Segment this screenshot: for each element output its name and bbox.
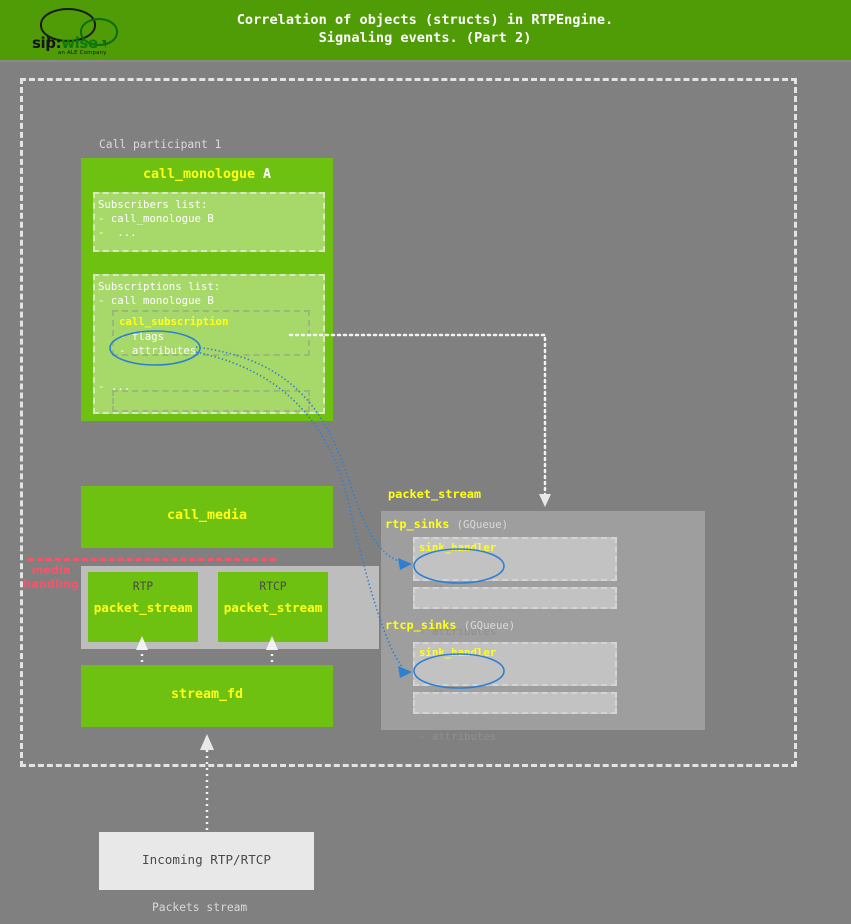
call-monologue-a-title-main: call_monologue bbox=[143, 167, 255, 182]
rtcp-packet-stream-box: RTCP packet_stream bbox=[218, 572, 328, 642]
sink-handler-placeholder-rtp bbox=[413, 587, 617, 609]
call-media-title: call_media bbox=[81, 508, 333, 523]
media-handling-divider bbox=[28, 558, 276, 561]
page-title-line-1: Correlation of objects (structs) in RTPE… bbox=[130, 11, 720, 29]
subscriptions-list-text: Subscriptions list: - call monologue B bbox=[98, 280, 220, 308]
subscriptions-heading: Subscriptions list: bbox=[98, 280, 220, 294]
sipwise-logo: sip:wise an ALE Company bbox=[32, 4, 128, 56]
rtp-sinks-name: rtp_sinks bbox=[385, 517, 449, 531]
logo-word-sip: sip: bbox=[32, 34, 61, 52]
sink-handler-box-rtcp: sink_handler - flags - attributes bbox=[413, 642, 617, 686]
call-subscription-box: call_subscription - flags - attributes bbox=[112, 310, 310, 356]
logo-wordmark: sip:wise bbox=[32, 36, 128, 51]
subscribers-heading: Subscribers list: bbox=[98, 198, 214, 212]
call-participant-label: Call participant 1 bbox=[99, 138, 221, 151]
stream-fd-box: stream_fd bbox=[81, 665, 333, 727]
call-subscription-attributes: - attributes bbox=[119, 344, 196, 358]
logo-tagline: an ALE Company bbox=[58, 50, 128, 56]
incoming-rtp-rtcp-title: Incoming RTP/RTCP bbox=[99, 852, 314, 867]
rtcp-sinks-label: rtcp_sinks (GQueue) bbox=[385, 618, 515, 632]
call-subscription-fields: - flags - attributes bbox=[119, 330, 196, 358]
call-media-box: call_media bbox=[81, 486, 333, 548]
call-monologue-a-title-suffix: A bbox=[255, 167, 271, 182]
call-subscription-title: call_subscription bbox=[119, 315, 228, 328]
packets-stream-caption: Packets stream bbox=[152, 901, 247, 914]
sink-handler-rtcp-title: sink_handler bbox=[419, 646, 496, 659]
subscribers-list-box: Subscribers list: - call_monologue B - .… bbox=[93, 192, 325, 252]
rtcp-sinks-type: (GQueue) bbox=[464, 619, 515, 632]
stream-fd-title: stream_fd bbox=[81, 687, 333, 702]
page-title: Correlation of objects (structs) in RTPE… bbox=[130, 11, 720, 47]
rtcp-packet-stream-title: packet_stream bbox=[218, 600, 328, 615]
subscribers-list-text: Subscribers list: - call_monologue B - .… bbox=[98, 198, 214, 240]
media-handling-label: mediahandling bbox=[20, 564, 82, 592]
rtcp-sinks-name: rtcp_sinks bbox=[385, 618, 457, 632]
subscriptions-item-1: - call monologue B bbox=[98, 294, 220, 308]
rtp-sinks-type: (GQueue) bbox=[457, 518, 508, 531]
sink-handler-placeholder-rtcp bbox=[413, 692, 617, 714]
sink-handler-box-rtp: sink_handler - flags - attributes bbox=[413, 537, 617, 581]
rtp-packet-stream-title: packet_stream bbox=[88, 600, 198, 615]
page-title-line-2: Signaling events. (Part 2) bbox=[130, 29, 720, 47]
call-monologue-a-title: call_monologue A bbox=[81, 167, 333, 182]
subscribers-item-1: - call_monologue B bbox=[98, 212, 214, 226]
packet-stream-panel-label: packet_stream bbox=[388, 487, 481, 501]
incoming-rtp-rtcp-box: Incoming RTP/RTCP bbox=[99, 832, 314, 890]
subscribers-item-2: - ... bbox=[98, 226, 214, 240]
app-header: sip:wise an ALE Company Correlation of o… bbox=[0, 0, 851, 62]
rtp-packet-stream-box: RTP packet_stream bbox=[88, 572, 198, 642]
sink-handler-rtcp-attributes: - attributes bbox=[419, 730, 496, 744]
rtp-kind-label: RTP bbox=[88, 580, 198, 593]
sink-handler-rtcp-fields: - flags - attributes bbox=[419, 660, 496, 772]
call-subscription-placeholder-box bbox=[112, 390, 310, 412]
rtp-sinks-label: rtp_sinks (GQueue) bbox=[385, 517, 508, 531]
rtcp-kind-label: RTCP bbox=[218, 580, 328, 593]
call-subscription-flags: - flags bbox=[119, 330, 196, 344]
packet-stream-panel: rtp_sinks (GQueue) sink_handler - flags … bbox=[381, 511, 705, 730]
sink-handler-rtp-title: sink_handler bbox=[419, 541, 496, 554]
